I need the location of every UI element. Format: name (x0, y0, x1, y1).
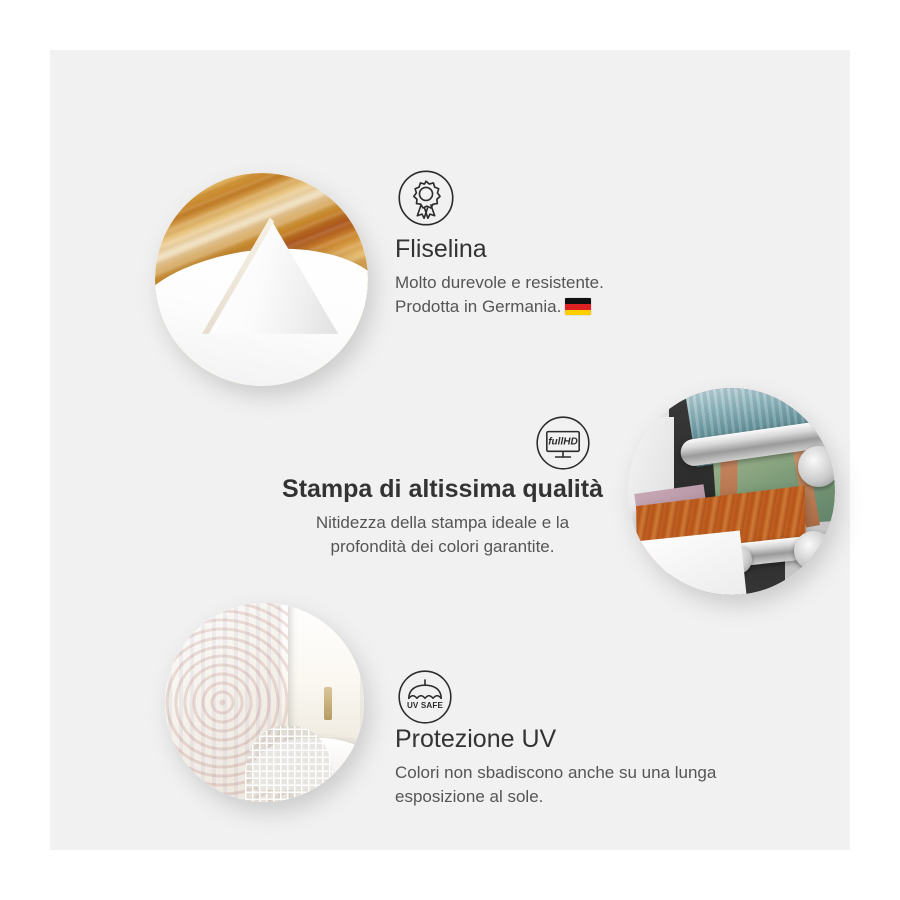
germany-flag-icon (565, 298, 591, 315)
svg-text:UV SAFE: UV SAFE (407, 701, 444, 710)
candlestick (324, 687, 332, 721)
stampa-text-block: Stampa di altissima qualità Nitidezza de… (280, 475, 605, 560)
feature-body-line1: Colori non sbadiscono anche su una lunga (395, 763, 716, 782)
roller-cap-top-right (798, 446, 835, 487)
feature-heading-stampa: Stampa di altissima qualità (280, 475, 605, 504)
press-front-panel (628, 531, 747, 595)
promo-page: Fliselina Molto durevole e resistente. P… (0, 0, 900, 900)
svg-text:fullHD: fullHD (548, 436, 578, 447)
mandala-wallpaper-photo (165, 603, 364, 802)
roller-cap-bottom-right (794, 531, 833, 570)
uv-safe-umbrella-icon: UV SAFE (397, 669, 453, 725)
printing-press-photo (628, 388, 835, 595)
feature-heading-uv: Protezione UV (395, 725, 775, 754)
mandala-wallpaper-photo-inner (165, 603, 364, 802)
feature-body-line2: esposizione al sole. (395, 787, 543, 806)
feature-heading-fliselina: Fliselina (395, 235, 695, 264)
peeling-wallpaper-photo (155, 173, 368, 386)
feature-body-line2: Prodotta in Germania. (395, 297, 561, 316)
room-window (280, 603, 360, 738)
feature-body-fliselina: Molto durevole e resistente. Prodotta in… (395, 271, 695, 320)
feature-body-stampa: Nitidezza della stampa ideale e la profo… (280, 511, 605, 560)
feature-body-line1: Nitidezza della stampa ideale e la (316, 513, 569, 532)
fullhd-monitor-icon: fullHD (535, 415, 591, 471)
award-ribbon-icon (397, 169, 455, 227)
feature-body-line1: Molto durevole e resistente. (395, 273, 604, 292)
feature-body-line2: profondità dei colori garantite. (331, 537, 555, 556)
peeling-wallpaper-photo-inner (155, 173, 368, 386)
content-panel: Fliselina Molto durevole e resistente. P… (50, 50, 850, 850)
feature-body-uv: Colori non sbadiscono anche su una lunga… (395, 761, 775, 810)
wire-chair (245, 726, 333, 802)
fliselina-text-block: Fliselina Molto durevole e resistente. P… (395, 235, 695, 320)
printing-press-photo-inner (628, 388, 835, 595)
uv-text-block: Protezione UV Colori non sbadiscono anch… (395, 725, 775, 810)
